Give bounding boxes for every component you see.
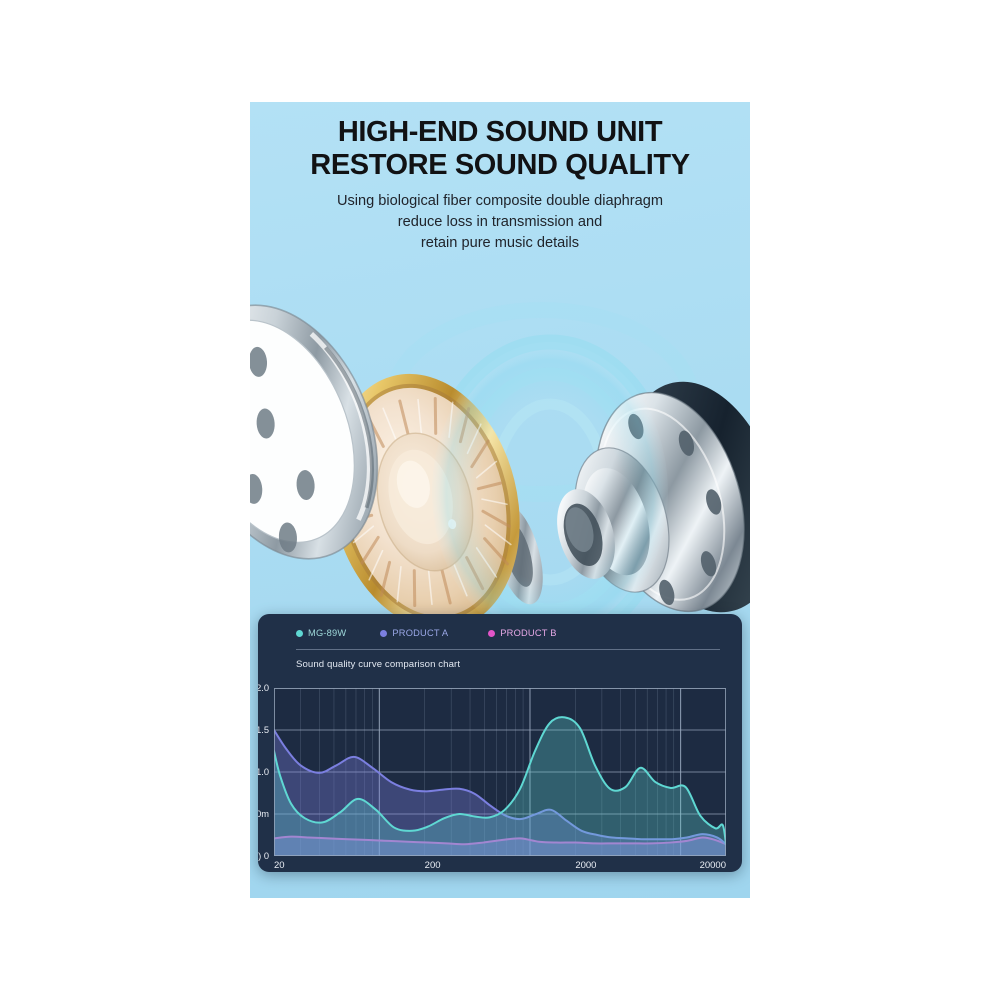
legend-item-product-a[interactable]: PRODUCT A bbox=[380, 628, 448, 638]
chart-caption: Sound quality curve comparison chart bbox=[296, 659, 726, 670]
y-tick-label: (&) 0 bbox=[258, 851, 274, 861]
hero-heading-block: HIGH-END SOUND UNIT RESTORE SOUND QUALIT… bbox=[250, 116, 750, 253]
headline-line-1: HIGH-END SOUND UNIT bbox=[250, 116, 750, 149]
y-tick-label: 500.0m bbox=[258, 809, 274, 819]
hero-panel: HIGH-END SOUND UNIT RESTORE SOUND QUALIT… bbox=[250, 102, 750, 898]
legend-dot-product-b bbox=[488, 630, 495, 637]
legend-dot-mg89w bbox=[296, 630, 303, 637]
legend-label-product-b: PRODUCT B bbox=[500, 628, 556, 638]
legend-label-product-a: PRODUCT A bbox=[392, 628, 448, 638]
legend-dot-product-a bbox=[380, 630, 387, 637]
subheadline-line-2: reduce loss in transmission and bbox=[250, 212, 750, 233]
legend-item-mg89w[interactable]: MG-89W bbox=[296, 628, 346, 638]
subheadline-line-1: Using biological fiber composite double … bbox=[250, 191, 750, 212]
y-tick-label: 1.0 bbox=[258, 767, 274, 777]
headline-line-2: RESTORE SOUND QUALITY bbox=[250, 149, 750, 182]
x-tick-label: 20000 bbox=[700, 860, 726, 871]
chart-legend: MG-89W PRODUCT A PRODUCT B bbox=[296, 628, 726, 638]
subheadline-line-3: retain pure music details bbox=[250, 233, 750, 254]
chart-card: MG-89W PRODUCT A PRODUCT B Sound quality… bbox=[258, 614, 742, 872]
frequency-response-chart bbox=[274, 688, 726, 856]
x-tick-label: 2000 bbox=[575, 860, 596, 871]
y-tick-label: 2.0 bbox=[258, 683, 274, 693]
legend-divider bbox=[296, 649, 720, 650]
subheadline: Using biological fiber composite double … bbox=[250, 191, 750, 253]
x-tick-label: 200 bbox=[425, 860, 441, 871]
x-tick-label: 20 bbox=[274, 860, 285, 871]
chart-plot-area: (&) 0500.0m1.01.52.0 20200200020000 freq… bbox=[274, 688, 726, 856]
poster-canvas: HIGH-END SOUND UNIT RESTORE SOUND QUALIT… bbox=[0, 0, 1000, 1000]
y-tick-label: 1.5 bbox=[258, 725, 274, 735]
legend-label-mg89w: MG-89W bbox=[308, 628, 346, 638]
legend-item-product-b[interactable]: PRODUCT B bbox=[488, 628, 556, 638]
